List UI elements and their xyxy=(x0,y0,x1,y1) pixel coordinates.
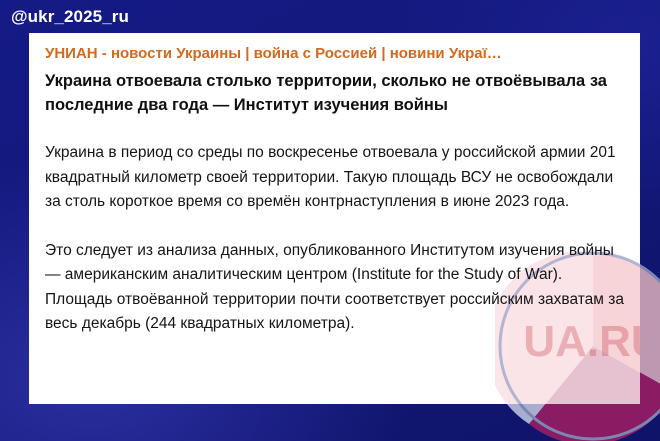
post-headline: Украина отвоевала столько территории, ск… xyxy=(45,69,624,117)
channel-handle: @ukr_2025_ru xyxy=(11,6,129,27)
post-paragraph-2: Это следует из анализа данных, опубликов… xyxy=(45,239,624,337)
channel-title[interactable]: УНИАН - новости Украины | война с Россие… xyxy=(45,43,624,65)
post-card: UA.RU УНИАН - новости Украины | война с … xyxy=(29,33,640,404)
screenshot-root: @ukr_2025_ru UA.RU УНИАН - новости Украи… xyxy=(0,0,660,441)
post-paragraph-1: Украина в период со среды по воскресенье… xyxy=(45,141,624,215)
post-content: УНИАН - новости Украины | война с Россие… xyxy=(29,33,640,337)
